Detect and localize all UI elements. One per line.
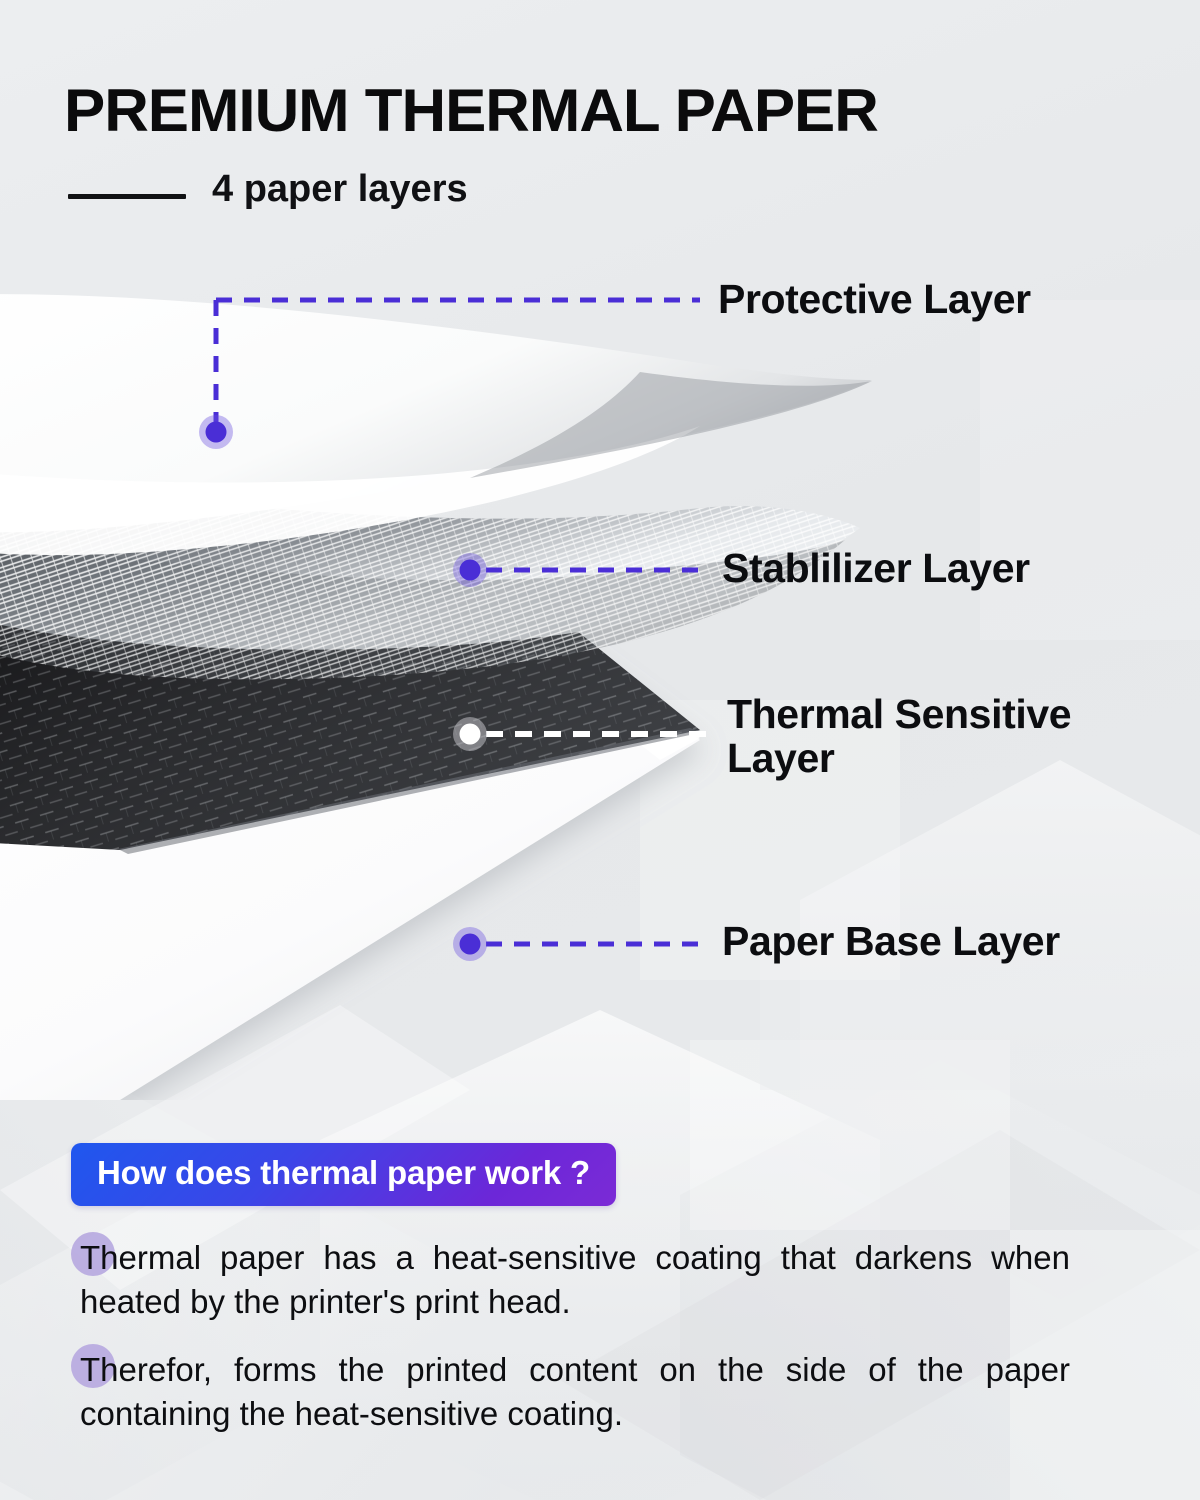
faq-item-1: Thermal paper has a heat-sensitive coati… xyxy=(80,1236,1070,1324)
infographic-page: PREMIUM THERMAL PAPER 4 paper layers xyxy=(0,0,1200,1500)
faq-item-2: Therefor, forms the printed content on t… xyxy=(80,1348,1070,1436)
title-underline-rule xyxy=(68,194,186,199)
layer-marker-stabilizer[interactable] xyxy=(453,553,487,587)
page-title: PREMIUM THERMAL PAPER xyxy=(64,76,878,145)
marker-core xyxy=(206,422,227,443)
marker-core xyxy=(460,560,481,581)
faq-banner: How does thermal paper work ? xyxy=(71,1143,616,1206)
marker-core xyxy=(460,724,481,745)
layer-label-paper-base: Paper Base Layer xyxy=(722,919,1060,963)
layer-marker-thermal-sensitive[interactable] xyxy=(453,717,487,751)
thermal-paper-layers-illustration xyxy=(0,240,1200,1100)
layer-label-thermal-sensitive: Thermal Sensitive Layer xyxy=(727,692,1177,781)
layer-label-stabilizer: Stablilizer Layer xyxy=(722,546,1030,590)
layer-marker-paper-base[interactable] xyxy=(453,927,487,961)
page-subtitle: 4 paper layers xyxy=(212,168,468,211)
layer-label-protective: Protective Layer xyxy=(718,277,1031,321)
layer-marker-protective[interactable] xyxy=(199,415,233,449)
marker-core xyxy=(460,934,481,955)
